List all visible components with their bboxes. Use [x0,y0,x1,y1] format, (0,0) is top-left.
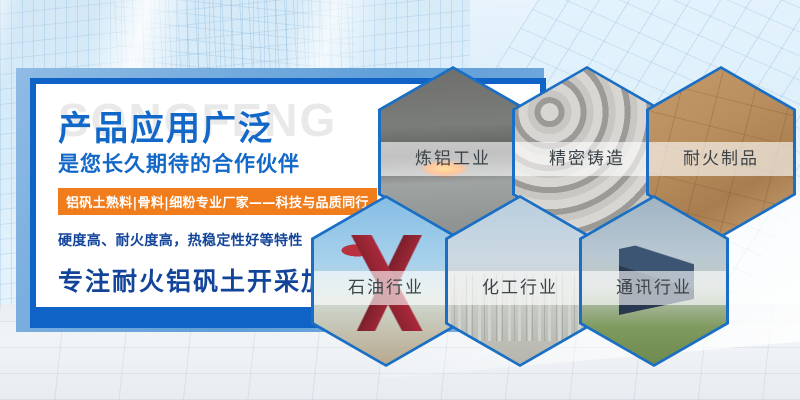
hex-label: 炼铝工业 [381,142,525,176]
banner-stage: W SONGFENG 产品应用广泛 是您长久期待的合作伙伴 铝矾土熟料|骨料|细… [0,0,800,400]
page-subtitle: 是您长久期待的合作伙伴 [58,148,300,178]
hex-label: 耐火制品 [649,142,793,176]
hex-label: 化工行业 [448,271,592,305]
hex-label: 精密铸造 [515,142,659,176]
hex-label: 通讯行业 [582,271,726,305]
feature-text: 硬度高、耐火度高，热稳定性好等特性 [58,230,303,250]
page-title: 产品应用广泛 [58,101,274,150]
slogan-text: 专注耐火铝矾土开采加工 [58,262,355,298]
hex-label: 石油行业 [314,271,458,305]
tagline-badge: 铝矾土熟料|骨料|细粉专业厂家——科技与品质同行 [58,188,377,215]
